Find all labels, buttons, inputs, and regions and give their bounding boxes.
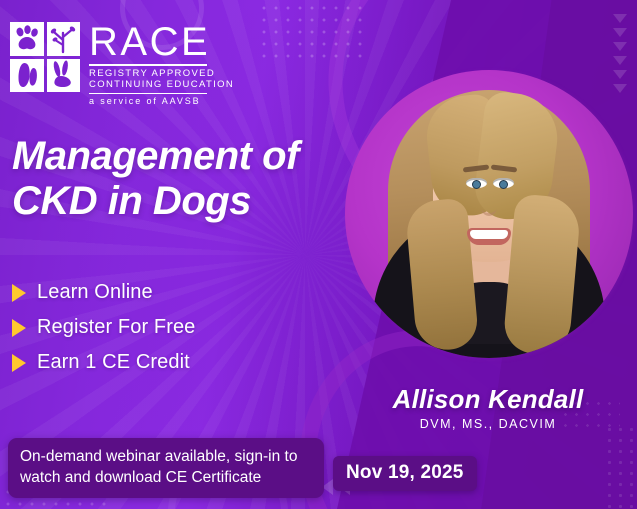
portrait-nose bbox=[482, 198, 497, 216]
logo-divider-bottom bbox=[89, 93, 207, 95]
photo-clip bbox=[345, 70, 633, 358]
portrait-iris-left bbox=[472, 180, 481, 189]
list-item-label: Earn 1 CE Credit bbox=[37, 351, 190, 374]
page-title: Management of CKD in Dogs bbox=[12, 134, 362, 224]
speaker-credentials: DVM, MS., DACVIM bbox=[344, 417, 632, 431]
triangle-down-icon bbox=[613, 14, 627, 23]
rabbit-head-icon bbox=[47, 59, 81, 93]
portrait-iris-right bbox=[499, 180, 508, 189]
portrait-teeth bbox=[470, 230, 508, 239]
triangle-down-icon bbox=[613, 42, 627, 51]
logo-service-line: a service of AAVSB bbox=[89, 96, 234, 107]
list-item: Learn Online bbox=[12, 281, 195, 304]
on-demand-note: On-demand webinar available, sign-in to … bbox=[8, 438, 324, 498]
speaker-photo bbox=[345, 70, 633, 358]
page-title-line2: CKD in Dogs bbox=[12, 179, 362, 224]
speaker-name: Allison Kendall bbox=[344, 385, 632, 414]
triangle-down-icon bbox=[613, 56, 627, 65]
triangle-down-icon bbox=[613, 28, 627, 37]
list-item: Earn 1 CE Credit bbox=[12, 351, 195, 374]
race-logo-mark bbox=[10, 22, 80, 92]
hoof-icon bbox=[10, 59, 44, 93]
portrait-mouth bbox=[467, 228, 511, 245]
list-item-label: Register For Free bbox=[37, 316, 195, 339]
logo-divider-top bbox=[89, 64, 207, 66]
list-item-label: Learn Online bbox=[37, 281, 153, 304]
date-badge: Nov 19, 2025 bbox=[333, 456, 477, 491]
feature-list: Learn Online Register For Free Earn 1 CE… bbox=[12, 281, 195, 374]
logo-subtitle-line1: REGISTRY APPROVED bbox=[89, 68, 234, 80]
triangle-right-icon bbox=[12, 354, 26, 372]
triangle-right-icon bbox=[12, 284, 26, 302]
leaf-branch-icon bbox=[47, 22, 81, 56]
list-item: Register For Free bbox=[12, 316, 195, 339]
paw-print-icon bbox=[10, 22, 44, 56]
race-logo: RACE REGISTRY APPROVED CONTINUING EDUCAT… bbox=[10, 22, 234, 107]
webinar-promo-banner: RACE REGISTRY APPROVED CONTINUING EDUCAT… bbox=[0, 0, 637, 509]
triangle-right-icon bbox=[12, 319, 26, 337]
logo-subtitle-line2: CONTINUING EDUCATION bbox=[89, 79, 234, 91]
page-title-line1: Management of bbox=[12, 134, 362, 179]
race-logo-text: RACE bbox=[89, 24, 234, 61]
speaker-info: Allison Kendall DVM, MS., DACVIM bbox=[344, 385, 632, 431]
race-logo-wordmark: RACE REGISTRY APPROVED CONTINUING EDUCAT… bbox=[89, 22, 234, 107]
